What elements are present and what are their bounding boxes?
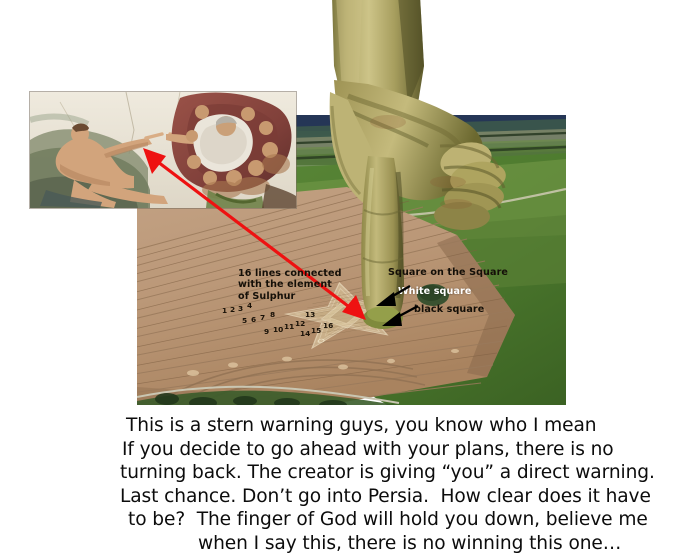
line-number-6: 6 [251, 315, 256, 324]
caption-line-6: when I say this, there is no winning thi… [0, 532, 700, 556]
line-number-7: 7 [260, 313, 265, 322]
black-arrow-upper [376, 286, 410, 306]
line-number-15: 15 [311, 326, 321, 335]
caption-block: This is a stern warning guys, you know w… [0, 414, 700, 556]
label-square-on-the-square: Square on the Square [388, 267, 508, 278]
line-number-11: 11 [284, 322, 294, 331]
caption-line-1: This is a stern warning guys, you know w… [0, 414, 700, 438]
line-number-8: 8 [270, 310, 275, 319]
label-16-lines-sulphur: 16 lines connected with the element of S… [238, 268, 342, 302]
caption-line-3: turning back. The creator is giving “you… [0, 461, 700, 485]
caption-line-4: Last chance. Don’t go into Persia. How c… [0, 485, 700, 509]
poster-canvas: 16 lines connected with the element of S… [0, 0, 700, 560]
line-number-4: 4 [247, 301, 252, 310]
line-number-1: 1 [222, 306, 227, 315]
line-number-16: 16 [323, 321, 333, 330]
black-pointer-arrows [372, 284, 442, 334]
line-number-markers: 1 2 3 4 5 6 7 8 9 10 11 12 13 14 15 16 [222, 300, 352, 342]
black-arrow-lower [382, 306, 418, 326]
line-number-3: 3 [238, 304, 243, 313]
line-number-2: 2 [230, 305, 235, 314]
line-number-13: 13 [305, 310, 315, 319]
line-number-12: 12 [295, 319, 305, 328]
caption-line-2: If you decide to go ahead with your plan… [0, 438, 700, 462]
line-number-5: 5 [242, 316, 247, 325]
caption-line-5: to be? The finger of God will hold you d… [0, 508, 700, 532]
line-number-10: 10 [273, 325, 283, 334]
line-number-14: 14 [300, 329, 310, 338]
line-number-9: 9 [264, 327, 269, 336]
